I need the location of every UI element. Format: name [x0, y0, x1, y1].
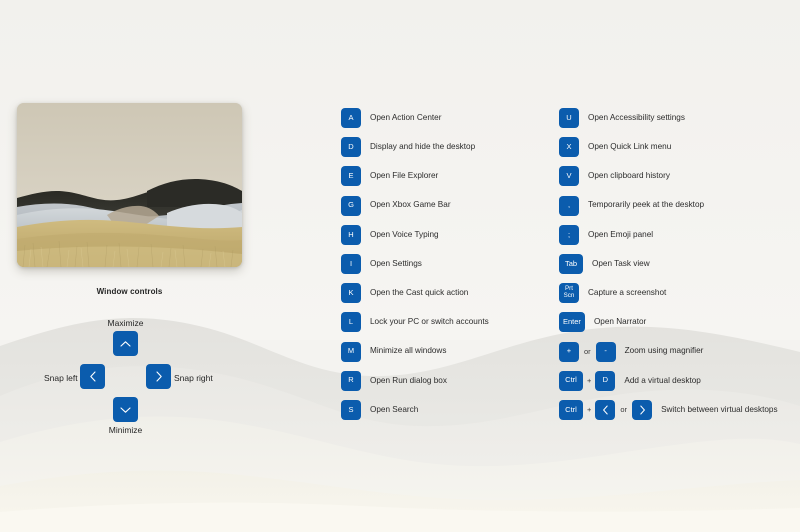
shortcut-row: EOpen File Explorer	[341, 166, 489, 186]
chevron-left-icon	[89, 371, 97, 382]
key-r-key[interactable]: R	[341, 371, 361, 391]
shortcut-description: Open Search	[370, 406, 418, 414]
key-label-line: Scn	[564, 293, 575, 300]
key-h-key[interactable]: H	[341, 225, 361, 245]
key-label: Ctrl	[565, 406, 577, 414]
key-label: ,	[568, 201, 570, 209]
key-label: Ctrl	[565, 376, 577, 384]
key-a-key[interactable]: A	[341, 108, 361, 128]
wallpaper-preview-thumbnail[interactable]	[17, 103, 242, 267]
key-label: S	[348, 406, 353, 414]
key-v-key[interactable]: V	[559, 166, 579, 186]
key-label: V	[566, 172, 571, 180]
key-m-key[interactable]: M	[341, 342, 361, 362]
maximize-label: Maximize	[0, 318, 251, 328]
shortcut-row: SOpen Search	[341, 400, 489, 420]
shortcut-description: Open File Explorer	[370, 172, 438, 180]
key--key[interactable]: ,	[559, 196, 579, 216]
key-label: M	[348, 347, 354, 355]
shortcut-description: Add a virtual desktop	[624, 377, 700, 385]
shortcut-description: Lock your PC or switch accounts	[370, 318, 489, 326]
shortcut-description: Open Emoji panel	[588, 231, 653, 239]
key-u-key[interactable]: U	[559, 108, 579, 128]
shortcut-row: ;Open Emoji panel	[559, 225, 778, 245]
chevron-right-key[interactable]	[632, 400, 652, 420]
key-i-key[interactable]: I	[341, 254, 361, 274]
arrow-up-key[interactable]	[113, 331, 138, 356]
key-label: A	[348, 114, 353, 122]
shortcut-description: Open Run dialog box	[370, 377, 447, 385]
shortcut-description: Open Accessibility settings	[588, 114, 685, 122]
snap-left-label: Snap left	[44, 373, 78, 383]
key-label: L	[349, 318, 353, 326]
shortcut-description: Zoom using magnifier	[625, 347, 704, 355]
shortcut-description: Temporarily peek at the desktop	[588, 201, 704, 209]
chevron-right-icon	[155, 371, 163, 382]
shortcut-description: Open Narrator	[594, 318, 646, 326]
key-combo-or: or	[615, 405, 632, 414]
shortcut-description: Open Xbox Game Bar	[370, 201, 451, 209]
key-label: E	[348, 172, 353, 180]
shortcut-row: GOpen Xbox Game Bar	[341, 196, 489, 216]
arrow-down-key[interactable]	[113, 397, 138, 422]
shortcut-row: AOpen Action Center	[341, 108, 489, 128]
shortcut-row: LLock your PC or switch accounts	[341, 312, 489, 332]
chevron-up-icon	[120, 340, 131, 348]
key-s-key[interactable]: S	[341, 400, 361, 420]
key-x-key[interactable]: X	[559, 137, 579, 157]
key-ctrl-key[interactable]: Ctrl	[559, 400, 583, 420]
shortcut-row: VOpen clipboard history	[559, 166, 778, 186]
key-k-key[interactable]: K	[341, 283, 361, 303]
shortcut-row: Ctrl+orSwitch between virtual desktops	[559, 400, 778, 420]
shortcut-row: KOpen the Cast quick action	[341, 283, 489, 303]
wallpaper-shortcut-overlay: Window controls Maximize Minimize Snap l…	[0, 0, 800, 532]
shortcut-row: EnterOpen Narrator	[559, 312, 778, 332]
shortcut-description: Open clipboard history	[588, 172, 670, 180]
chevron-right-icon	[639, 405, 646, 415]
key-label: Enter	[563, 318, 581, 326]
shortcut-row: TabOpen Task view	[559, 254, 778, 274]
shortcut-description: Capture a screenshot	[588, 289, 666, 297]
key--key[interactable]: -	[596, 342, 616, 362]
key-tab-key[interactable]: Tab	[559, 254, 583, 274]
shortcut-row: IOpen Settings	[341, 254, 489, 274]
shortcut-row: +or-Zoom using magnifier	[559, 342, 778, 362]
key-label: X	[566, 143, 571, 151]
key-l-key[interactable]: L	[341, 312, 361, 332]
shortcut-row: ROpen Run dialog box	[341, 371, 489, 391]
key-label: Tab	[565, 260, 577, 268]
shortcut-description: Open Settings	[370, 260, 422, 268]
key-d-key[interactable]: D	[341, 137, 361, 157]
key-label: K	[348, 289, 353, 297]
shortcut-description: Open Voice Typing	[370, 231, 439, 239]
key-label: D	[348, 143, 353, 151]
key-d-key[interactable]: D	[595, 371, 615, 391]
arrow-left-key[interactable]	[80, 364, 105, 389]
key-combo-or: or	[579, 347, 596, 356]
key-e-key[interactable]: E	[341, 166, 361, 186]
key-label: U	[566, 114, 571, 122]
key-combo-plus: +	[583, 405, 595, 414]
shortcut-description: Open the Cast quick action	[370, 289, 468, 297]
arrow-right-key[interactable]	[146, 364, 171, 389]
key-label: I	[350, 260, 352, 268]
shortcut-column-1: AOpen Action CenterDDisplay and hide the…	[341, 108, 489, 429]
minimize-label: Minimize	[0, 425, 251, 435]
key-combo-plus: +	[583, 376, 595, 385]
shortcut-column-2: UOpen Accessibility settingsXOpen Quick …	[559, 108, 778, 429]
chevron-down-icon	[120, 406, 131, 414]
key-label: H	[348, 231, 353, 239]
key-prt-scn-key[interactable]: PrtScn	[559, 283, 579, 303]
key-ctrl-key[interactable]: Ctrl	[559, 371, 583, 391]
shortcut-row: MMinimize all windows	[341, 342, 489, 362]
chevron-left-icon	[602, 405, 609, 415]
shortcut-description: Open Task view	[592, 260, 650, 268]
window-controls-title: Window controls	[0, 287, 259, 296]
shortcut-row: Ctrl+DAdd a virtual desktop	[559, 371, 778, 391]
key-label: -	[604, 347, 607, 355]
shortcut-description: Display and hide the desktop	[370, 143, 475, 151]
shortcut-row: ,Temporarily peek at the desktop	[559, 196, 778, 216]
shortcut-row: XOpen Quick Link menu	[559, 137, 778, 157]
shortcut-description: Switch between virtual desktops	[661, 406, 778, 414]
key--key[interactable]: ;	[559, 225, 579, 245]
shortcut-row: HOpen Voice Typing	[341, 225, 489, 245]
shortcut-row: PrtScnCapture a screenshot	[559, 283, 778, 303]
key-label: G	[348, 201, 354, 209]
shortcut-description: Open Quick Link menu	[588, 143, 671, 151]
key-label: ;	[568, 231, 570, 239]
key-g-key[interactable]: G	[341, 196, 361, 216]
shortcut-description: Open Action Center	[370, 114, 441, 122]
shortcut-row: UOpen Accessibility settings	[559, 108, 778, 128]
shortcut-description: Minimize all windows	[370, 347, 446, 355]
key-label: +	[567, 347, 571, 355]
chevron-left-key[interactable]	[595, 400, 615, 420]
key--key[interactable]: +	[559, 342, 579, 362]
key-enter-key[interactable]: Enter	[559, 312, 585, 332]
key-label: D	[603, 376, 608, 384]
key-label: R	[348, 376, 353, 384]
shortcut-row: DDisplay and hide the desktop	[341, 137, 489, 157]
snap-right-label: Snap right	[174, 373, 213, 383]
